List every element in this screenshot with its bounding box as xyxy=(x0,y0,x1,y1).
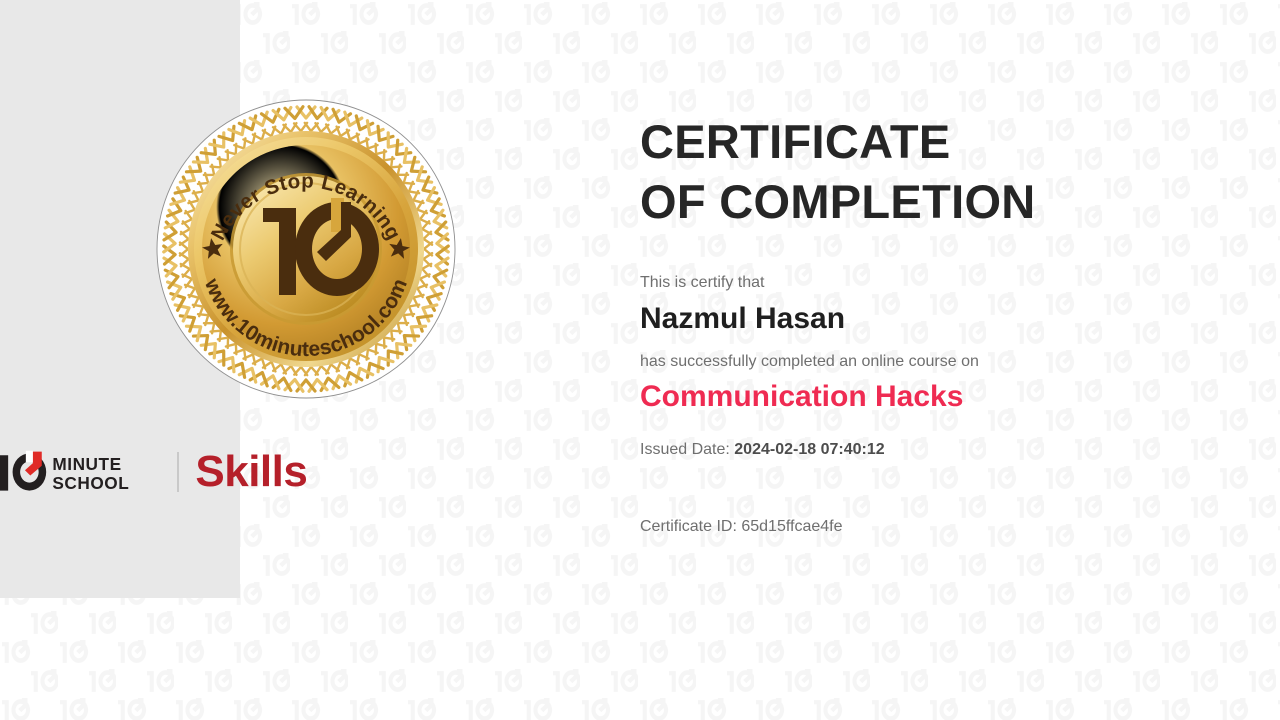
issued-date-row: Issued Date: 2024-02-18 07:40:12 xyxy=(640,441,1240,459)
recipient-name: Nazmul Hasan xyxy=(640,301,1240,337)
issued-date-value: 2024-02-18 07:40:12 xyxy=(734,441,884,458)
ten-minute-school-logo: MINUTE SCHOOL xyxy=(0,449,167,495)
logo-line1: MINUTE xyxy=(52,454,121,474)
certificate-content: CERTIFICATE OF COMPLETION This is certif… xyxy=(640,112,1240,536)
certificate-title-line2: OF COMPLETION xyxy=(640,175,1036,228)
brand-product-label: Skills xyxy=(195,450,307,494)
page-title: CERTIFICATE OF COMPLETION xyxy=(640,112,1240,232)
gold-seal-badge: Never Stop Learning www.10minuteschool.c… xyxy=(155,98,457,400)
brand-divider xyxy=(177,452,179,492)
logo-line2: SCHOOL xyxy=(52,473,129,493)
issued-date-label: Issued Date: xyxy=(640,441,730,458)
brand-lockup: MINUTE SCHOOL Skills xyxy=(0,443,307,501)
intro-text: This is certify that xyxy=(640,272,1240,294)
completion-text: has successfully completed an online cou… xyxy=(640,351,1240,373)
course-name: Communication Hacks xyxy=(640,379,1240,415)
certificate-title-line1: CERTIFICATE xyxy=(640,115,951,168)
certificate-id: Certificate ID: 65d15ffcae4fe xyxy=(640,518,1240,536)
title-spacer xyxy=(640,232,1240,272)
certificate-page: Never Stop Learning www.10minuteschool.c… xyxy=(0,0,1280,720)
